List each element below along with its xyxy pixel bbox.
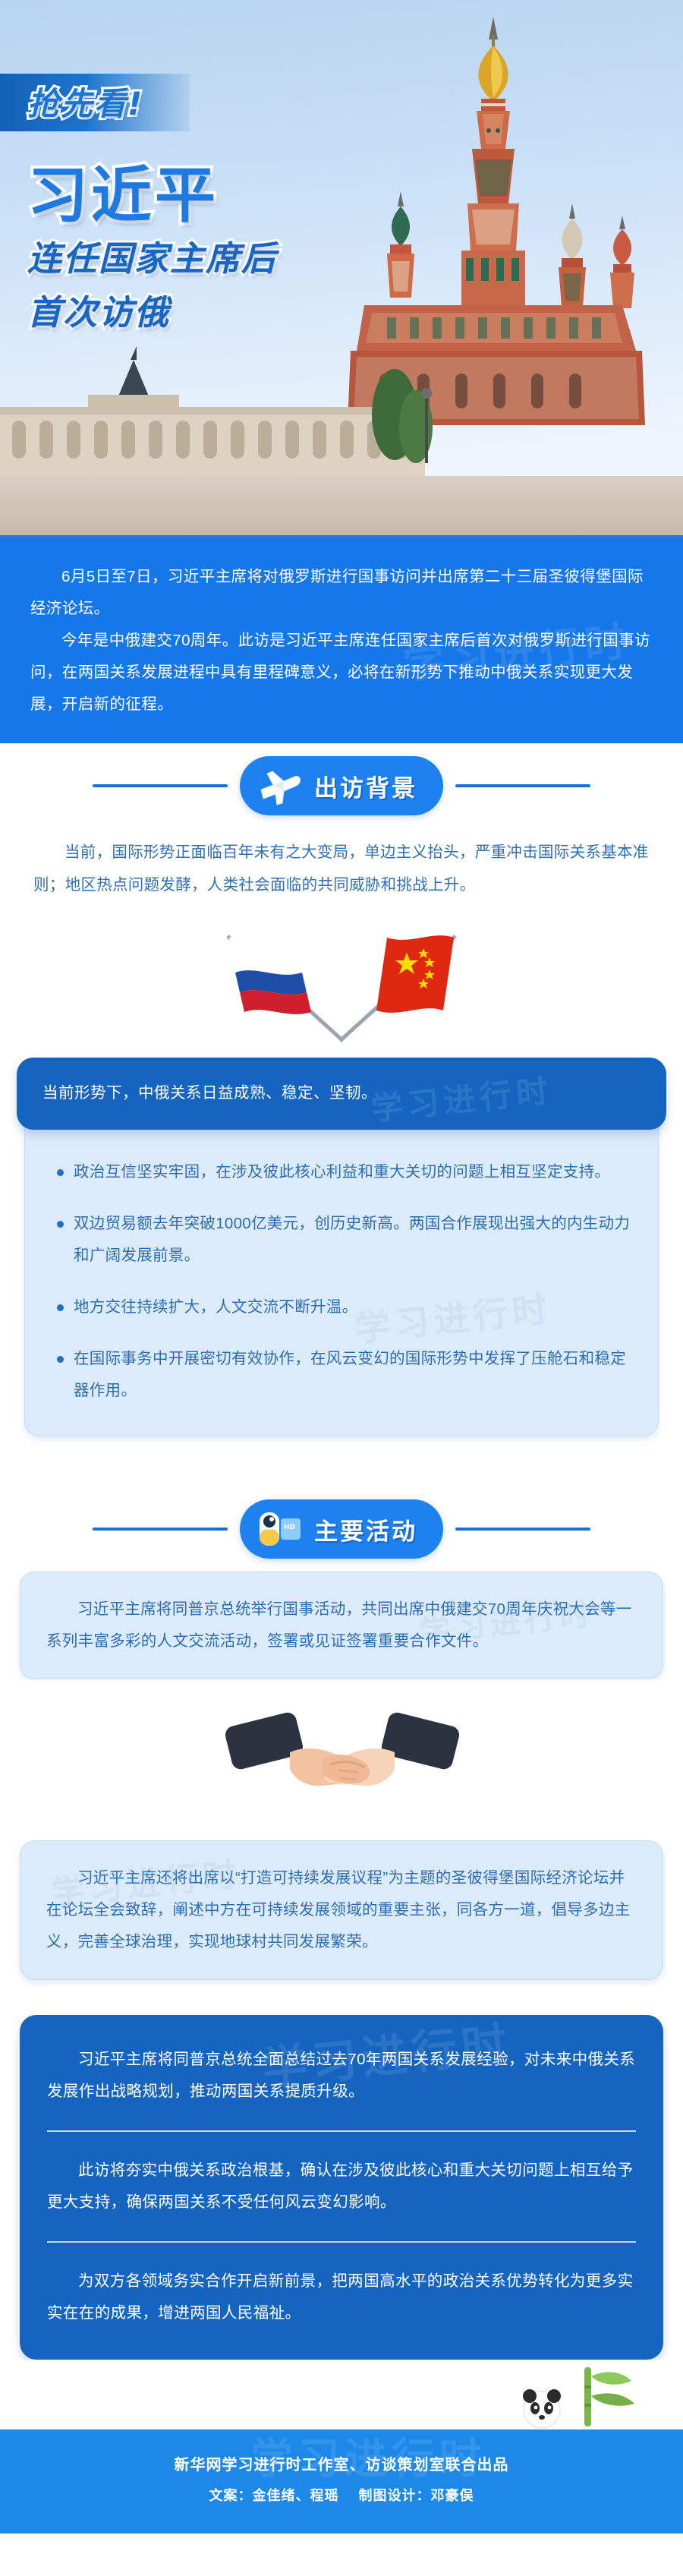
background-lead-paragraph: 当前，国际形势正面临百年未有之大变局，单边主义抬头，严重冲击国际关系基本准则；地… xyxy=(33,836,650,901)
background-bullet-list: 政治互信坚实牢固，在涉及彼此核心利益和重大关切的问题上相互坚定支持。 双边贸易额… xyxy=(51,1156,632,1407)
spacer xyxy=(0,1980,683,2015)
panda-bamboo-decoration xyxy=(0,2360,683,2429)
section-header-background: 出访背景 xyxy=(0,743,683,828)
plaza-ground xyxy=(0,476,683,535)
activities-card-2-text: 习近平主席还将出席以“打造可持续发展议程”为主题的圣彼得堡国际经济论坛并在论坛全… xyxy=(46,1862,637,1958)
page-title: 习近平 xyxy=(27,166,422,226)
russia-flag-icon xyxy=(229,935,311,1014)
divider-rule-left xyxy=(93,784,228,787)
section-label-background: 出访背景 xyxy=(314,769,417,803)
divider-rule-left xyxy=(93,1528,228,1531)
designer-label: 制图设计： xyxy=(359,2488,431,2503)
background-highlight-text: 当前形势下，中俄关系日益成熟、稳定、坚韧。 xyxy=(42,1080,641,1107)
footer-staff-line: 文案：金佳绪、程瑶制图设计：邓豪俣 xyxy=(0,2485,683,2505)
divider-rule-right xyxy=(455,784,590,787)
flash-badge-label: 抢先看! xyxy=(27,78,143,125)
red-square-buildings-photo xyxy=(0,342,683,478)
crossed-flags-illustration xyxy=(0,913,683,1058)
conclusion-paragraph-1: 习近平主席将同普京总统全面总结过去70年两国关系发展经验，对未来中俄关系发展作出… xyxy=(47,2044,636,2108)
list-item: 双边贸易额去年突破1000亿美元，创历史新高。两国合作展现出强大的内生动力和广阔… xyxy=(51,1208,632,1272)
background-cards-group: 学习进行时 当前形势下，中俄关系日益成熟、稳定、坚韧。 学习进行时 政治互信坚实… xyxy=(0,1058,683,1436)
list-item: 政治互信坚实牢固，在涉及彼此核心利益和重大关切的问题上相互坚定支持。 xyxy=(51,1156,632,1188)
divider xyxy=(47,2241,636,2243)
hero-section: 抢先看! 习近平 连任国家主席后 首次访俄 xyxy=(0,0,683,535)
conclusion-block: 学习进行时 习近平主席将同普京总统全面总结过去70年两国关系发展经验，对未来中俄… xyxy=(20,2015,663,2360)
footer-credit-line: 新华网学习进行时工作室、访谈策划室联合出品 xyxy=(0,2452,683,2474)
camera-hd-icon: HD xyxy=(257,1508,304,1550)
divider-rule-right xyxy=(455,1528,590,1531)
activities-card-2: 学习进行时 习近平主席还将出席以“打造可持续发展议程”为主题的圣彼得堡国际经济论… xyxy=(20,1840,663,1980)
infographic-page: 抢先看! 习近平 连任国家主席后 首次访俄 学习进行时 6月5日至7日，习近平主… xyxy=(0,0,683,2576)
conclusion-paragraph-3: 为双方各领域务实合作开启新前景，把两国高水平的政治关系优势转化为更多实实在在的成… xyxy=(47,2265,636,2329)
copywriter-names: 金佳绪、程瑶 xyxy=(253,2488,339,2503)
list-item: 在国际事务中开展密切有效协作，在风云变幻的国际形势中发挥了压舱石和稳定器作用。 xyxy=(51,1343,632,1407)
footer-section: 学习进行时 新华网学习进行时工作室、访谈策划室联合出品 文案：金佳绪、程瑶制图设… xyxy=(0,2429,683,2533)
background-lead-text: 当前，国际形势正面临百年未有之大变局，单边主义抬头，严重冲击国际关系基本准则；地… xyxy=(0,828,683,913)
airplane-icon xyxy=(257,765,304,807)
divider xyxy=(47,2130,636,2132)
section-pill-activities[interactable]: HD 主要活动 xyxy=(240,1499,443,1559)
copywriter-label: 文案： xyxy=(209,2488,253,2503)
page-subtitle-line-2: 首次访俄 xyxy=(27,292,422,334)
headline-group: 习近平 连任国家主席后 首次访俄 xyxy=(27,166,422,334)
conclusion-paragraph-2: 此访将夯实中俄关系政治根基，确认在涉及彼此核心和重大关切问题上相互给予更大支持，… xyxy=(47,2155,636,2218)
section-header-activities: HD 主要活动 xyxy=(0,1487,683,1572)
background-bullets-card: 学习进行时 政治互信坚实牢固，在涉及彼此核心利益和重大关切的问题上相互坚定支持。… xyxy=(24,1116,659,1436)
intro-paragraph-2: 今年是中俄建交70周年。此访是习近平主席连任国家主席后首次对俄罗斯进行国事访问，… xyxy=(30,625,653,720)
activities-card-1: 学习进行时 习近平主席将同普京总统举行国事活动，共同出席中俄建交70周年庆祝大会… xyxy=(20,1572,663,1679)
section-label-activities: 主要活动 xyxy=(314,1512,417,1547)
bamboo-icon xyxy=(584,2367,634,2426)
panda-icon xyxy=(523,2389,561,2428)
intro-section: 学习进行时 6月5日至7日，习近平主席将对俄罗斯进行国事访问并出席第二十三届圣彼… xyxy=(0,535,683,743)
section-pill-background[interactable]: 出访背景 xyxy=(240,756,443,815)
designer-names: 邓豪俣 xyxy=(431,2488,474,2503)
list-item: 地方交往持续扩大，人文交流不断升温。 xyxy=(51,1291,632,1323)
intro-paragraph-1: 6月5日至7日，习近平主席将对俄罗斯进行国事访问并出席第二十三届圣彼得堡国际经济… xyxy=(30,561,653,625)
svg-text:HD: HD xyxy=(284,1524,295,1531)
cathedral-decoration-spacer xyxy=(0,1436,683,1487)
activities-card-1-text: 习近平主席将同普京总统举行国事活动，共同出席中俄建交70周年庆祝大会等一系列丰富… xyxy=(46,1594,637,1657)
handshake-illustration xyxy=(0,1679,683,1840)
page-subtitle-line-1: 连任国家主席后 xyxy=(27,238,422,280)
background-highlight-card: 学习进行时 当前形势下，中俄关系日益成熟、稳定、坚韧。 xyxy=(17,1058,666,1130)
china-flag-icon xyxy=(376,935,454,1013)
